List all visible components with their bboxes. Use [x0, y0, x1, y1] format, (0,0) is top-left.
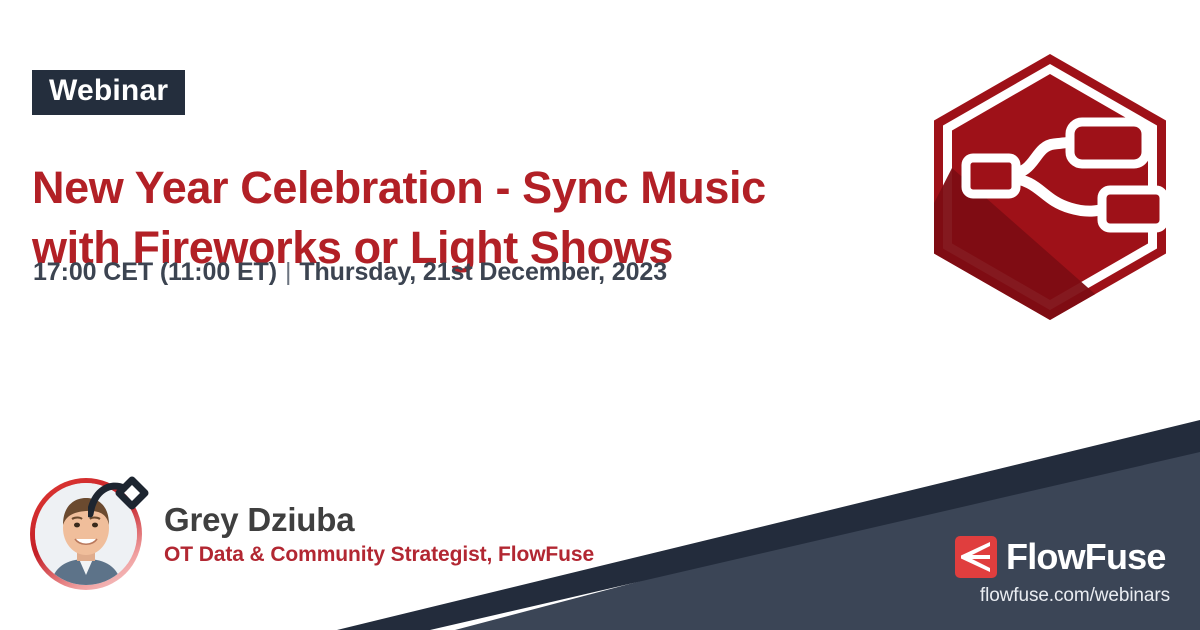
meta-separator: |	[277, 258, 299, 287]
flowfuse-url: flowfuse.com/webinars	[955, 585, 1170, 607]
flowfuse-brand-lockup: FlowFuse flowfuse.com/webinars	[955, 536, 1170, 607]
webinar-badge: Webinar	[32, 70, 185, 115]
node-bottom-right	[1102, 190, 1164, 228]
event-date: Thursday, 21st December, 2023	[299, 258, 667, 286]
webinar-promo-card: Webinar New Year Celebration - Sync Musi…	[0, 0, 1200, 630]
speaker-block: Grey Dziuba OT Data & Community Strategi…	[30, 478, 594, 590]
avatar	[30, 478, 142, 590]
speaker-role: OT Data & Community Strategist, FlowFuse	[164, 543, 594, 566]
node-connector-accent-icon	[88, 474, 152, 530]
node-left	[966, 158, 1016, 194]
flowfuse-mark-icon	[955, 536, 997, 578]
flowfuse-wordmark: FlowFuse	[1006, 539, 1166, 575]
event-datetime: 17:00 CET (11:00 ET)|Thursday, 21st Dece…	[33, 258, 667, 287]
node-red-hexagon-icon	[930, 50, 1170, 325]
event-time: 17:00 CET (11:00 ET)	[33, 258, 277, 286]
node-top-right	[1070, 122, 1146, 164]
speaker-name: Grey Dziuba	[164, 502, 594, 538]
speaker-details: Grey Dziuba OT Data & Community Strategi…	[164, 502, 594, 566]
flowfuse-logo-row: FlowFuse	[955, 536, 1170, 578]
title-line-1: New Year Celebration - Sync Music	[32, 162, 766, 213]
